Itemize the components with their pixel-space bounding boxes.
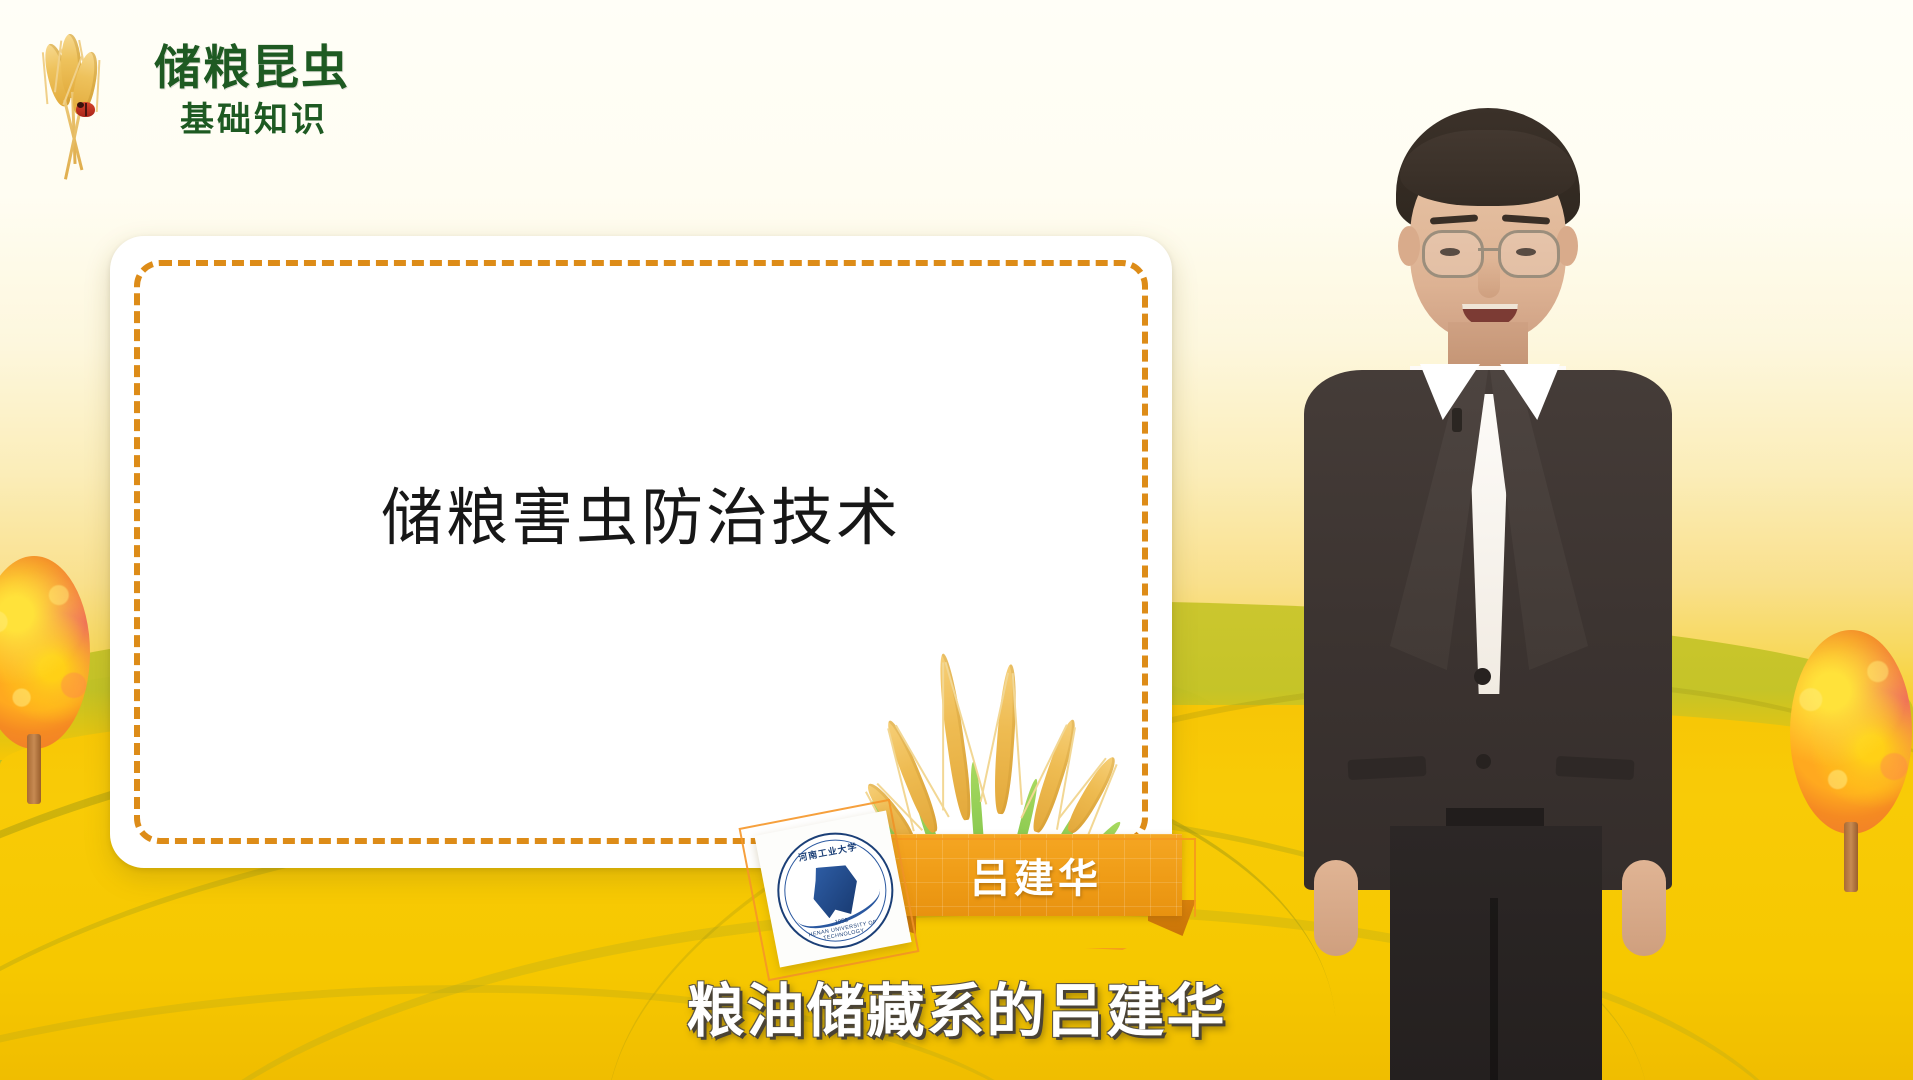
autumn-tree-icon [0,556,90,804]
subtitle-caption: 粮油储藏系的吕建华 [0,964,1913,1048]
jacket-button [1476,754,1491,769]
wheat-ladybug-icon [36,26,146,172]
wheat-ear [992,664,1019,815]
jacket-pocket-left [1348,756,1427,780]
video-frame: 储粮昆虫 基础知识 储粮害虫防治技术 吕建华 [0,0,1913,1080]
wheat-ear [1063,753,1121,836]
tree-crown [1790,630,1912,834]
presenter-hand-right [1622,860,1666,956]
presenter-hand-left [1314,860,1358,956]
presenter-name-banner: 吕建华 [862,834,1198,952]
wheat-ear [935,652,975,821]
lapel-microphone-icon [1452,408,1462,432]
presenter-video [1270,108,1700,1080]
presenter-ear-left [1398,226,1420,266]
university-seal-icon: 河南工业大学 1956 HENAN UNIVERSITY OF TECHNOLO… [767,823,903,959]
wheat-cluster-icon [880,612,1120,872]
brand-logo: 储粮昆虫 基础知识 [36,22,416,174]
glasses-lens-right [1498,230,1560,278]
brand-text: 储粮昆虫 基础知识 [154,44,350,137]
glasses-bridge [1478,248,1500,251]
presenter-name-text: 吕建华 [890,834,1182,916]
university-seal-card: 河南工业大学 1956 HENAN UNIVERSITY OF TECHNOLO… [754,810,911,967]
presenter-nose [1478,258,1500,298]
autumn-tree-icon [1790,630,1912,892]
slide-title-text: 储粮害虫防治技术 [381,467,901,557]
tree-trunk [27,734,41,804]
presenter-hair-fringe [1400,130,1576,206]
jacket-button [1474,668,1491,685]
brand-title-line2: 基础知识 [180,103,350,137]
glasses-lens-left [1422,230,1484,278]
tree-trunk [1844,822,1858,892]
tree-crown [0,556,90,749]
jacket-pocket-right [1556,756,1635,780]
brand-title-line1: 储粮昆虫 [154,44,350,91]
ladybug-icon [76,102,95,117]
